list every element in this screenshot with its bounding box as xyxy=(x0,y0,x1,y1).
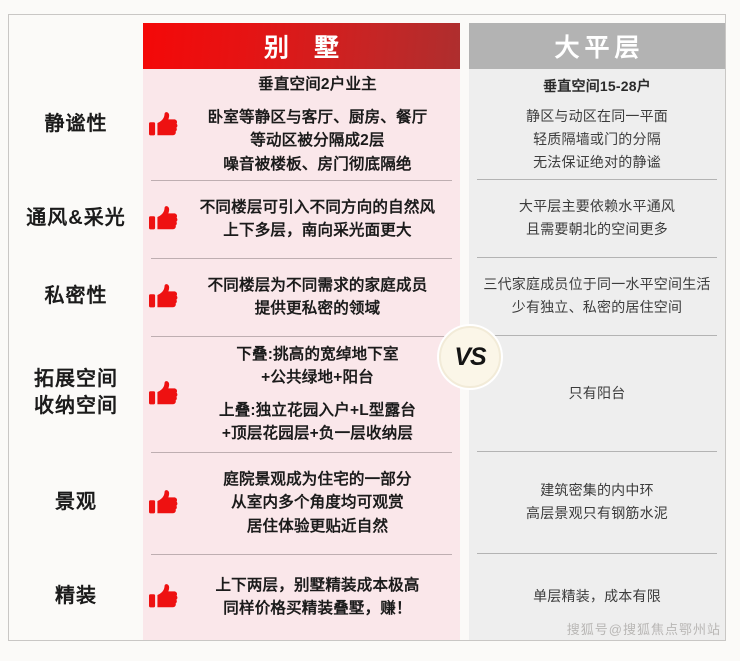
villa-paragraph: 上下两层，别墅精装成本极高同样价格买精装叠墅，赚！ xyxy=(185,574,450,621)
flat-lead-line: 垂直空间15-28户 xyxy=(479,75,715,98)
villa-paragraph: 庭院景观成为住宅的一部分从室内多个角度均可观赏居住体验更贴近自然 xyxy=(185,468,450,539)
flat-line: 静区与动区在同一平面 xyxy=(479,105,715,128)
vs-badge-label: VS xyxy=(454,343,485,372)
villa-cell: 垂直空间2户业主卧室等静区与客厅、厨房、餐厅等动区被分隔成2层噪音被楼板、房门彻… xyxy=(143,69,460,180)
villa-cell-text: 不同楼层可引入不同方向的自然风上下多层，南向采光面更大 xyxy=(185,196,450,243)
villa-paragraph: 上叠:独立花园入户+L型露台+顶层花园层+负一层收纳层 xyxy=(185,399,450,446)
thumbs-up-icon xyxy=(149,110,179,140)
villa-line: 居住体验更贴近自然 xyxy=(185,515,450,539)
flat-cell-text: 建筑密集的内中环高层景观只有钢筋水泥 xyxy=(479,479,715,524)
villa-line: 同样价格买精装叠墅，赚！ xyxy=(185,597,450,621)
column-header-villa: 别 墅 xyxy=(143,23,460,69)
villa-line: 从室内多个角度均可观赏 xyxy=(185,491,450,515)
row-label-text: 通风&采光 xyxy=(26,205,125,232)
thumbs-up-icon xyxy=(149,204,179,234)
flat-cell: 大平层主要依赖水平通风且需要朝北的空间更多 xyxy=(469,179,725,257)
flat-line: 大平层主要依赖水平通风 xyxy=(479,195,715,218)
villa-line: 噪音被楼板、房门彻底隔绝 xyxy=(185,153,450,177)
villa-line: 上叠:独立花园入户+L型露台 xyxy=(185,399,450,423)
row-label-text: 静谧性 xyxy=(45,111,108,138)
flat-column: 垂直空间15-28户静区与动区在同一平面轻质隔墙或门的分隔无法保证绝对的静谧大平… xyxy=(469,69,725,640)
flat-line: 只有阳台 xyxy=(479,382,715,405)
villa-cell-text: 不同楼层为不同需求的家庭成员提供更私密的领域 xyxy=(185,274,450,321)
villa-cell-text: 上下两层，别墅精装成本极高同样价格买精装叠墅，赚！ xyxy=(185,574,450,621)
villa-paragraph: 不同楼层可引入不同方向的自然风上下多层，南向采光面更大 xyxy=(185,196,450,243)
villa-line: 提供更私密的领域 xyxy=(185,297,450,321)
villa-line: +顶层花园层+负一层收纳层 xyxy=(185,422,450,446)
villa-line: 上下多层，南向采光面更大 xyxy=(185,219,450,243)
villa-paragraph: 垂直空间2户业主 xyxy=(185,73,450,97)
row-label-column: 静谧性通风&采光私密性拓展空间 收纳空间景观精装 xyxy=(9,69,143,640)
thumbs-up-icon xyxy=(149,282,179,312)
vs-badge: VS xyxy=(439,326,501,388)
villa-line: 卧室等静区与客厅、厨房、餐厅 xyxy=(185,106,450,130)
flat-cell: 三代家庭成员位于同一水平空间生活少有独立、私密的居住空间 xyxy=(469,257,725,335)
villa-paragraph: 下叠:挑高的宽绰地下室+公共绿地+阳台 xyxy=(185,343,450,390)
row-label-cell: 静谧性 xyxy=(9,69,143,179)
villa-cell-text: 下叠:挑高的宽绰地下室+公共绿地+阳台上叠:独立花园入户+L型露台+顶层花园层+… xyxy=(185,343,450,446)
flat-cell: 建筑密集的内中环高层景观只有钢筋水泥 xyxy=(469,451,725,553)
thumbs-up-icon xyxy=(149,582,179,612)
flat-cell-text: 只有阳台 xyxy=(479,382,715,405)
watermark: 搜狐号@搜狐焦点鄂州站 xyxy=(567,619,721,638)
thumbs-up-icon xyxy=(149,379,179,409)
villa-cell-text: 垂直空间2户业主卧室等静区与客厅、厨房、餐厅等动区被分隔成2层噪音被楼板、房门彻… xyxy=(185,73,450,176)
villa-line: 垂直空间2户业主 xyxy=(185,73,450,97)
flat-cell-text: 垂直空间15-28户静区与动区在同一平面轻质隔墙或门的分隔无法保证绝对的静谧 xyxy=(479,75,715,174)
flat-line: 轻质隔墙或门的分隔 xyxy=(479,128,715,151)
flat-line: 少有独立、私密的居住空间 xyxy=(479,296,715,319)
row-label-cell: 精装 xyxy=(9,553,143,640)
villa-cell: 下叠:挑高的宽绰地下室+公共绿地+阳台上叠:独立花园入户+L型露台+顶层花园层+… xyxy=(143,336,460,452)
column-header-flat: 大平层 xyxy=(469,23,725,69)
column-header-flat-label: 大平层 xyxy=(549,28,644,64)
flat-line: 无法保证绝对的静谧 xyxy=(479,151,715,174)
row-label-text: 拓展空间 收纳空间 xyxy=(34,366,118,420)
flat-cell: 垂直空间15-28户静区与动区在同一平面轻质隔墙或门的分隔无法保证绝对的静谧 xyxy=(469,69,725,179)
villa-cell: 不同楼层为不同需求的家庭成员提供更私密的领域 xyxy=(143,258,460,336)
flat-line: 三代家庭成员位于同一水平空间生活 xyxy=(479,273,715,296)
row-label-cell: 拓展空间 收纳空间 xyxy=(9,335,143,451)
villa-paragraph: 不同楼层为不同需求的家庭成员提供更私密的领域 xyxy=(185,274,450,321)
villa-line: 上下两层，别墅精装成本极高 xyxy=(185,574,450,598)
row-label-cell: 景观 xyxy=(9,451,143,553)
villa-cell: 上下两层，别墅精装成本极高同样价格买精装叠墅，赚！ xyxy=(143,554,460,640)
row-label-cell: 私密性 xyxy=(9,257,143,335)
row-label-cell: 通风&采光 xyxy=(9,179,143,257)
flat-cell-text: 大平层主要依赖水平通风且需要朝北的空间更多 xyxy=(479,195,715,240)
flat-line: 且需要朝北的空间更多 xyxy=(479,218,715,241)
flat-line: 高层景观只有钢筋水泥 xyxy=(479,502,715,525)
villa-line: 等动区被分隔成2层 xyxy=(185,129,450,153)
villa-line: +公共绿地+阳台 xyxy=(185,366,450,390)
flat-cell-text: 三代家庭成员位于同一水平空间生活少有独立、私密的居住空间 xyxy=(479,273,715,318)
flat-line: 单层精装，成本有限 xyxy=(479,585,715,608)
row-label-text: 私密性 xyxy=(45,283,108,310)
comparison-table: 别 墅 大平层 静谧性通风&采光私密性拓展空间 收纳空间景观精装 垂直空间2户业… xyxy=(9,15,725,640)
row-label-text: 精装 xyxy=(55,583,97,610)
villa-line: 不同楼层可引入不同方向的自然风 xyxy=(185,196,450,220)
flat-cell: 只有阳台 xyxy=(469,335,725,451)
thumbs-up-icon xyxy=(149,488,179,518)
comparison-infographic: 别 墅 大平层 静谧性通风&采光私密性拓展空间 收纳空间景观精装 垂直空间2户业… xyxy=(8,14,726,641)
row-label-text: 景观 xyxy=(55,489,97,516)
villa-paragraph: 卧室等静区与客厅、厨房、餐厅等动区被分隔成2层噪音被楼板、房门彻底隔绝 xyxy=(185,106,450,177)
villa-line: 下叠:挑高的宽绰地下室 xyxy=(185,343,450,367)
flat-cell-text: 单层精装，成本有限 xyxy=(479,585,715,608)
flat-line: 建筑密集的内中环 xyxy=(479,479,715,502)
villa-line: 庭院景观成为住宅的一部分 xyxy=(185,468,450,492)
column-header-villa-label: 别 墅 xyxy=(255,28,348,64)
villa-cell: 庭院景观成为住宅的一部分从室内多个角度均可观赏居住体验更贴近自然 xyxy=(143,452,460,554)
villa-cell-text: 庭院景观成为住宅的一部分从室内多个角度均可观赏居住体验更贴近自然 xyxy=(185,468,450,539)
villa-cell: 不同楼层可引入不同方向的自然风上下多层，南向采光面更大 xyxy=(143,180,460,258)
villa-column: 垂直空间2户业主卧室等静区与客厅、厨房、餐厅等动区被分隔成2层噪音被楼板、房门彻… xyxy=(143,69,460,640)
villa-line: 不同楼层为不同需求的家庭成员 xyxy=(185,274,450,298)
